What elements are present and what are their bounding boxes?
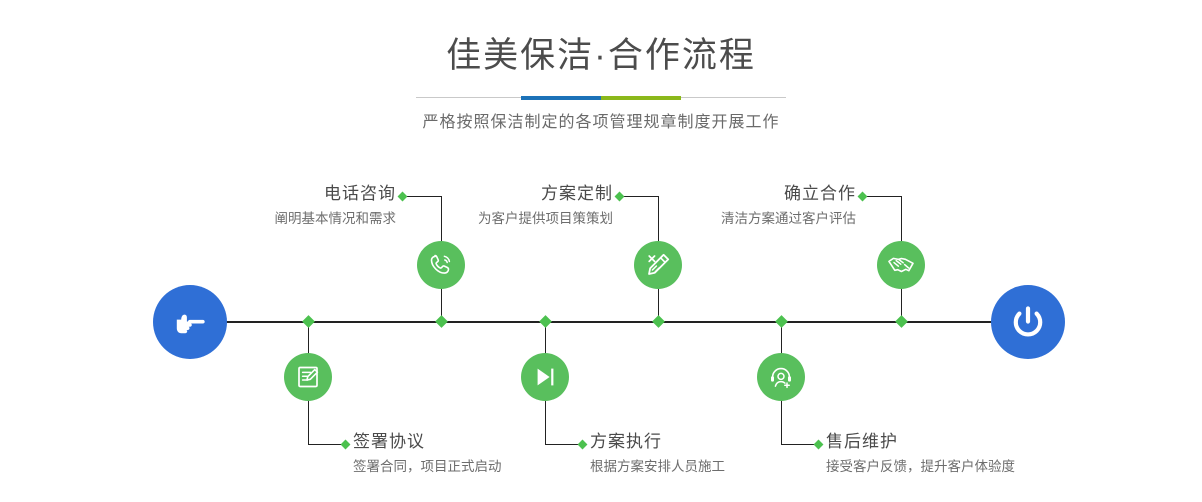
step-desc-4: 根据方案安排人员施工	[590, 457, 725, 477]
play-execute-icon	[531, 363, 559, 391]
label-diamond-4	[578, 440, 588, 450]
flow-start-node[interactable]	[153, 285, 227, 359]
step-title-5: 确立合作	[530, 183, 856, 205]
step-desc-6: 接受客户反馈，提升客户体验度	[826, 457, 1015, 477]
label-diamond-6	[814, 440, 824, 450]
axis-diamond-4	[539, 315, 552, 328]
flow-diagram: 电话咨询 阐明基本情况和需求 签署协议 签署合同，项目正式启动	[0, 0, 1202, 502]
axis-diamond-3	[652, 315, 665, 328]
power-button-icon	[1007, 301, 1049, 343]
axis-diamond-1	[435, 315, 448, 328]
step-icon-1[interactable]	[417, 241, 465, 289]
label-diamond-5	[858, 192, 868, 202]
axis-diamond-5	[895, 315, 908, 328]
step-desc-5: 清洁方案通过客户评估	[530, 209, 856, 229]
document-edit-icon	[294, 363, 322, 391]
step-label-4: 方案执行 根据方案安排人员施工	[590, 431, 725, 477]
step-title-6: 售后维护	[826, 431, 1015, 453]
step-title-2: 签署协议	[353, 431, 502, 453]
phone-call-icon	[426, 250, 456, 280]
axis-diamond-2	[302, 315, 315, 328]
step-icon-3[interactable]	[634, 241, 682, 289]
connector-elbow-3	[620, 196, 659, 197]
handshake-icon	[886, 250, 916, 280]
cooperation-flow-infographic: 佳美保洁·合作流程 严格按照保洁制定的各项管理规章制度开展工作	[0, 0, 1202, 502]
flow-end-node[interactable]	[991, 285, 1065, 359]
step-label-6: 售后维护 接受客户反馈，提升客户体验度	[826, 431, 1015, 477]
step-title-4: 方案执行	[590, 431, 725, 453]
axis-diamond-6	[775, 315, 788, 328]
connector-elbow-1	[403, 196, 442, 197]
label-diamond-2	[341, 440, 351, 450]
customer-service-icon	[767, 363, 795, 391]
step-icon-4[interactable]	[521, 353, 569, 401]
step-icon-5[interactable]	[877, 241, 925, 289]
step-icon-2[interactable]	[284, 353, 332, 401]
pencil-plan-icon	[643, 250, 673, 280]
pointing-hand-icon	[168, 300, 212, 344]
step-label-2: 签署协议 签署合同，项目正式启动	[353, 431, 502, 477]
step-desc-2: 签署合同，项目正式启动	[353, 457, 502, 477]
step-icon-6[interactable]	[757, 353, 805, 401]
step-label-5: 确立合作 清洁方案通过客户评估	[530, 183, 856, 229]
connector-elbow-5	[863, 196, 902, 197]
